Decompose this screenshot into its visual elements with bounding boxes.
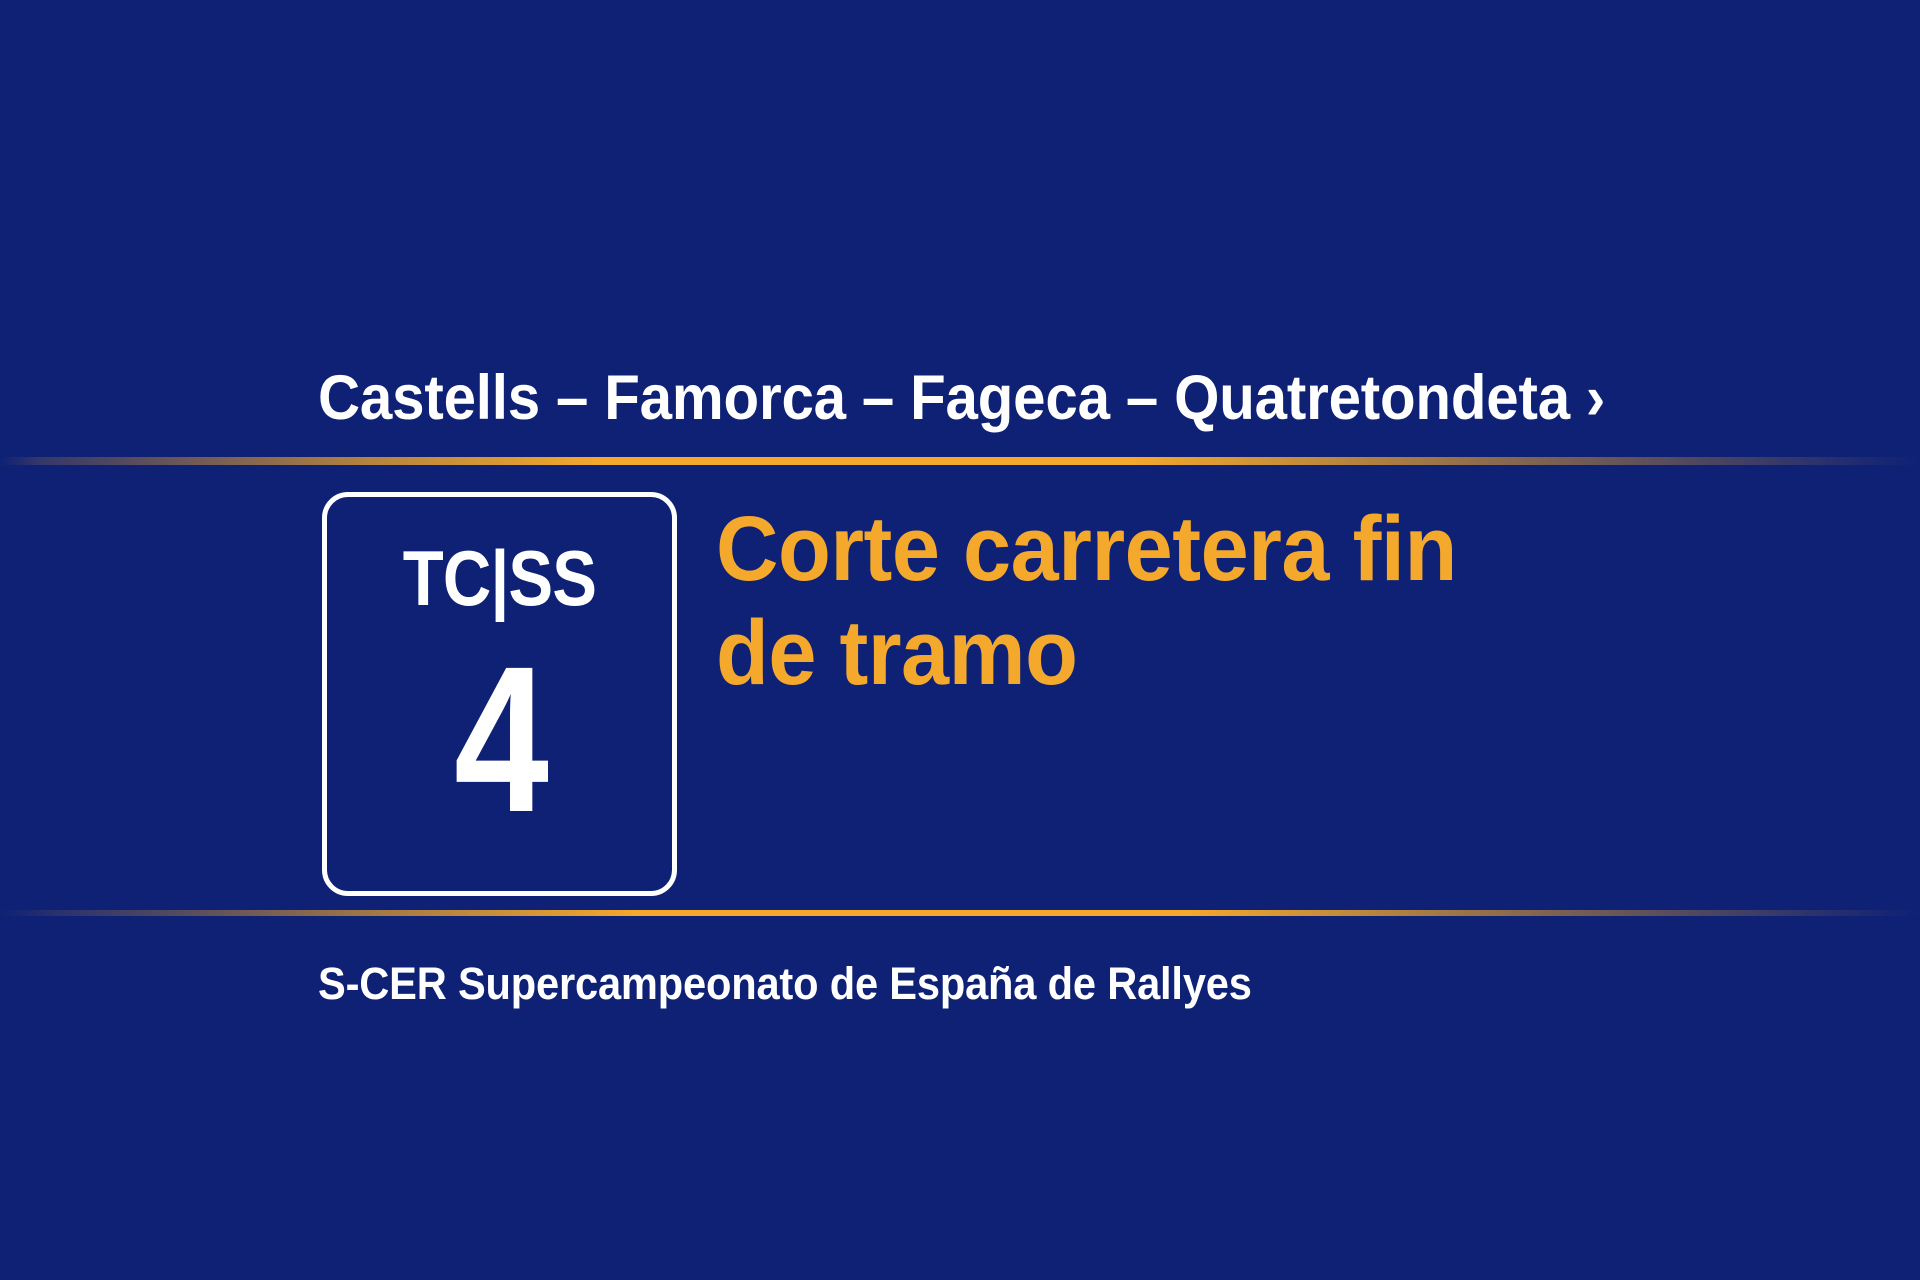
- divider-bottom: [0, 910, 1920, 916]
- headline-line-2: de tramo: [716, 602, 1750, 706]
- badge-number-label: 4: [454, 645, 546, 836]
- stage-headline: Corte carretera fin de tramo: [716, 498, 1750, 706]
- stage-number-badge: TC|SS 4: [322, 492, 677, 896]
- headline-line-1: Corte carretera fin: [716, 498, 1750, 602]
- championship-label: S-CER Supercampeonato de España de Rally…: [318, 948, 1706, 1018]
- stage-card: Castells – Famorca – Fageca – Quatretond…: [0, 0, 1920, 1280]
- badge-code-label: TC|SS: [403, 539, 596, 617]
- stage-content-row: TC|SS 4 Corte carretera fin de tramo: [318, 488, 1818, 900]
- divider-top: [0, 457, 1920, 465]
- stage-title[interactable]: Castells – Famorca – Fageca – Quatretond…: [318, 352, 1706, 444]
